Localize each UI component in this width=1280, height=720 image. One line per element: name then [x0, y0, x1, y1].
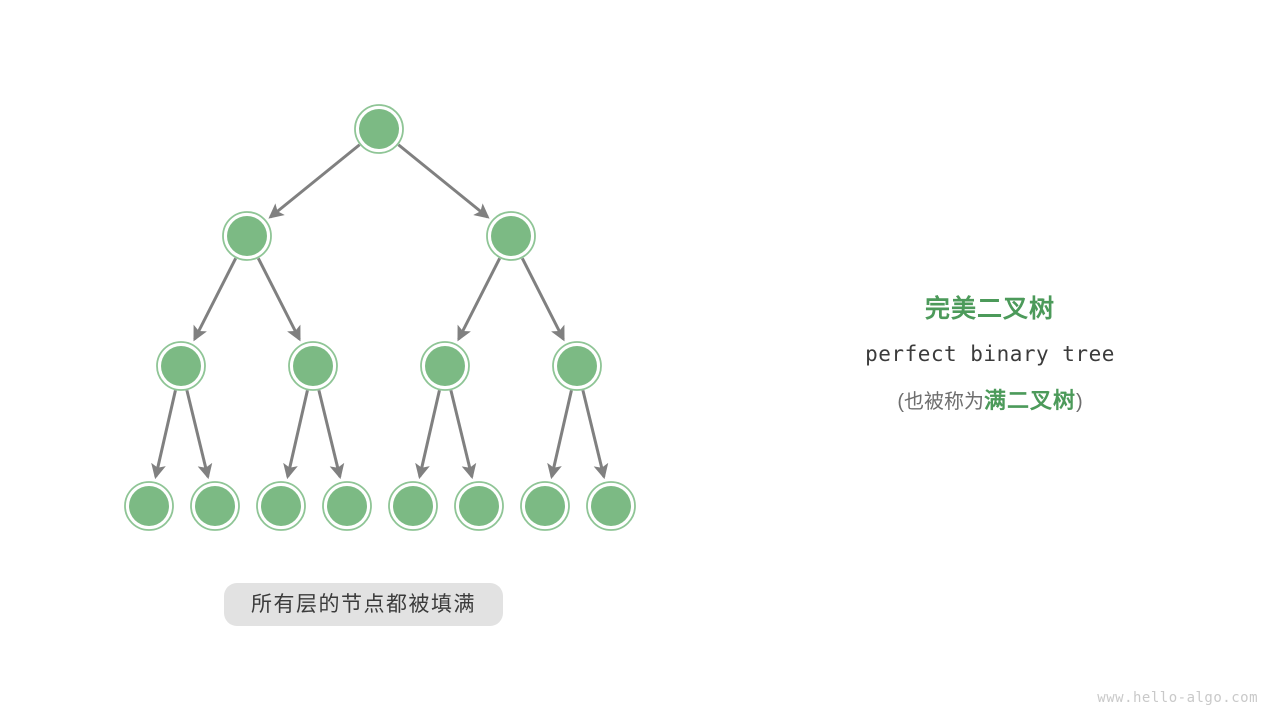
legend-alternate-name: (也被称为满二叉树)	[790, 384, 1190, 419]
tree-edge	[288, 390, 308, 476]
tree-edge	[420, 390, 440, 476]
tree-edge	[451, 390, 472, 477]
legend-block: 完美二叉树 perfect binary tree (也被称为满二叉树)	[790, 292, 1190, 419]
tree-node-disc	[227, 216, 267, 256]
tree-node	[191, 482, 239, 530]
caption-badge: 所有层的节点都被填满	[224, 583, 503, 626]
tree-node-layer	[125, 105, 635, 530]
legend-alt-prefix: (也被称为	[897, 391, 984, 413]
tree-node	[421, 342, 469, 390]
tree-node	[587, 482, 635, 530]
tree-edge	[187, 390, 208, 477]
legend-alt-strong: 满二叉树	[984, 388, 1076, 413]
legend-english-term: perfect binary tree	[790, 337, 1190, 371]
tree-edge	[156, 390, 176, 476]
tree-node	[223, 212, 271, 260]
tree-edge	[270, 145, 359, 217]
tree-node	[521, 482, 569, 530]
tree-node-disc	[557, 346, 597, 386]
tree-node	[455, 482, 503, 530]
tree-edge	[319, 390, 340, 477]
tree-edge	[552, 390, 572, 476]
tree-node-disc	[129, 486, 169, 526]
tree-node	[487, 212, 535, 260]
tree-edge-layer	[156, 145, 604, 477]
tree-edge	[195, 258, 236, 339]
tree-node-disc	[359, 109, 399, 149]
tree-edge	[258, 258, 299, 339]
tree-node-disc	[293, 346, 333, 386]
watermark: www.hello-algo.com	[1097, 690, 1258, 706]
tree-node	[553, 342, 601, 390]
tree-node-disc	[327, 486, 367, 526]
tree-node-disc	[261, 486, 301, 526]
tree-node	[355, 105, 403, 153]
tree-node	[389, 482, 437, 530]
tree-node-disc	[591, 486, 631, 526]
tree-node-disc	[491, 216, 531, 256]
tree-node-disc	[195, 486, 235, 526]
tree-node-disc	[525, 486, 565, 526]
tree-edge	[583, 390, 604, 477]
tree-edge	[398, 145, 487, 217]
tree-node	[289, 342, 337, 390]
tree-node-disc	[425, 346, 465, 386]
tree-edge	[459, 258, 500, 339]
legend-alt-suffix: )	[1076, 391, 1083, 413]
tree-node	[257, 482, 305, 530]
tree-edge	[522, 258, 563, 339]
tree-node-disc	[161, 346, 201, 386]
tree-node	[125, 482, 173, 530]
tree-node-disc	[393, 486, 433, 526]
tree-node	[157, 342, 205, 390]
tree-node-disc	[459, 486, 499, 526]
legend-title: 完美二叉树	[790, 292, 1190, 326]
tree-node	[323, 482, 371, 530]
